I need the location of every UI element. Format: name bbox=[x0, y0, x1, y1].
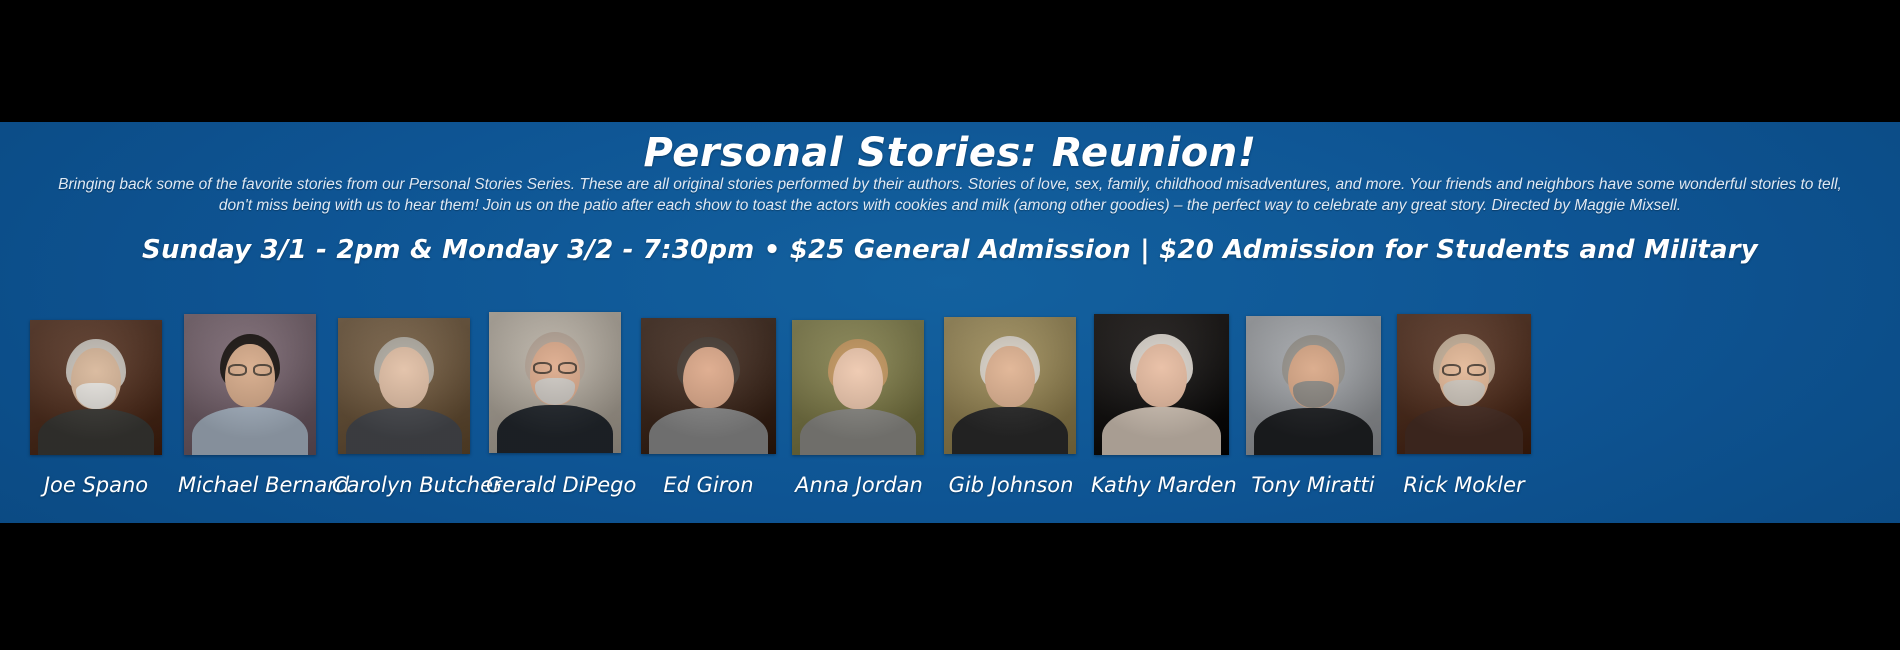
portrait-photo bbox=[1397, 314, 1531, 454]
cast-list: Joe SpanoMichael BernardCarolyn ButcherG… bbox=[0, 122, 1900, 523]
cast-member-name: Michael Bernard bbox=[178, 473, 323, 497]
portrait-photo bbox=[944, 317, 1076, 454]
cast-headshot[interactable] bbox=[338, 318, 470, 454]
portrait-photo bbox=[792, 320, 924, 455]
cast-member-name: Gib Johnson bbox=[941, 473, 1081, 497]
cast-member-name: Tony Miratti bbox=[1243, 473, 1383, 497]
cast-headshot[interactable] bbox=[1094, 314, 1229, 455]
cast-headshot[interactable] bbox=[184, 314, 316, 455]
cast-member-name: Carolyn Butcher bbox=[332, 473, 477, 497]
cast-headshot[interactable] bbox=[489, 312, 621, 453]
cast-headshot[interactable] bbox=[1246, 316, 1381, 455]
cast-headshot[interactable] bbox=[641, 318, 776, 454]
portrait-photo bbox=[30, 320, 162, 455]
cast-member-name: Gerald DiPego bbox=[486, 473, 626, 497]
cast-headshot[interactable] bbox=[944, 317, 1076, 454]
portrait-photo bbox=[1246, 316, 1381, 455]
poster-banner: Personal Stories: Reunion! Bringing back… bbox=[0, 122, 1900, 523]
cast-headshot[interactable] bbox=[792, 320, 924, 455]
cast-member-name: Kathy Marden bbox=[1091, 473, 1236, 497]
portrait-photo bbox=[489, 312, 621, 453]
portrait-photo bbox=[184, 314, 316, 455]
cast-headshot[interactable] bbox=[30, 320, 162, 455]
portrait-photo bbox=[1094, 314, 1229, 455]
cast-member-name: Joe Spano bbox=[30, 473, 162, 497]
portrait-photo bbox=[641, 318, 776, 454]
cast-member-name: Anna Jordan bbox=[789, 473, 929, 497]
poster-stage: Personal Stories: Reunion! Bringing back… bbox=[0, 0, 1900, 650]
portrait-photo bbox=[338, 318, 470, 454]
letterbox-top bbox=[0, 0, 1900, 122]
letterbox-bottom bbox=[0, 523, 1900, 650]
cast-member-name: Rick Mokler bbox=[1394, 473, 1534, 497]
cast-headshot[interactable] bbox=[1397, 314, 1531, 454]
cast-member-name: Ed Giron bbox=[641, 473, 776, 497]
